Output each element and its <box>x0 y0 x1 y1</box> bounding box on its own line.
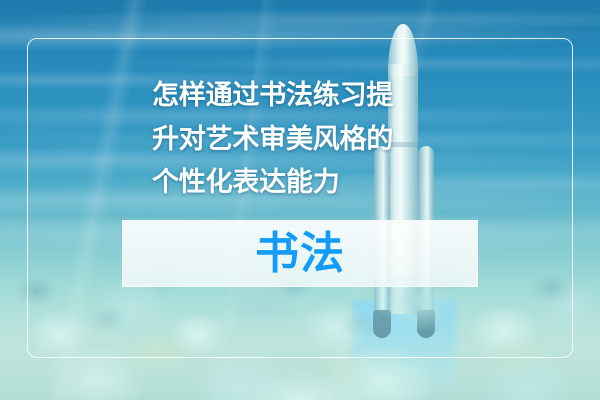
page-title-line-3: 个性化表达能力 <box>152 161 462 205</box>
poster-canvas: 怎样通过书法练习提 升对艺术审美风格的 个性化表达能力 书法 <box>0 0 600 400</box>
subtitle-banner: 书法 <box>122 220 478 287</box>
page-title: 怎样通过书法练习提 升对艺术审美风格的 个性化表达能力 <box>152 74 462 205</box>
page-title-line-1: 怎样通过书法练习提 <box>152 74 462 118</box>
subtitle-label: 书法 <box>255 232 345 276</box>
page-title-line-2: 升对艺术审美风格的 <box>152 118 462 162</box>
